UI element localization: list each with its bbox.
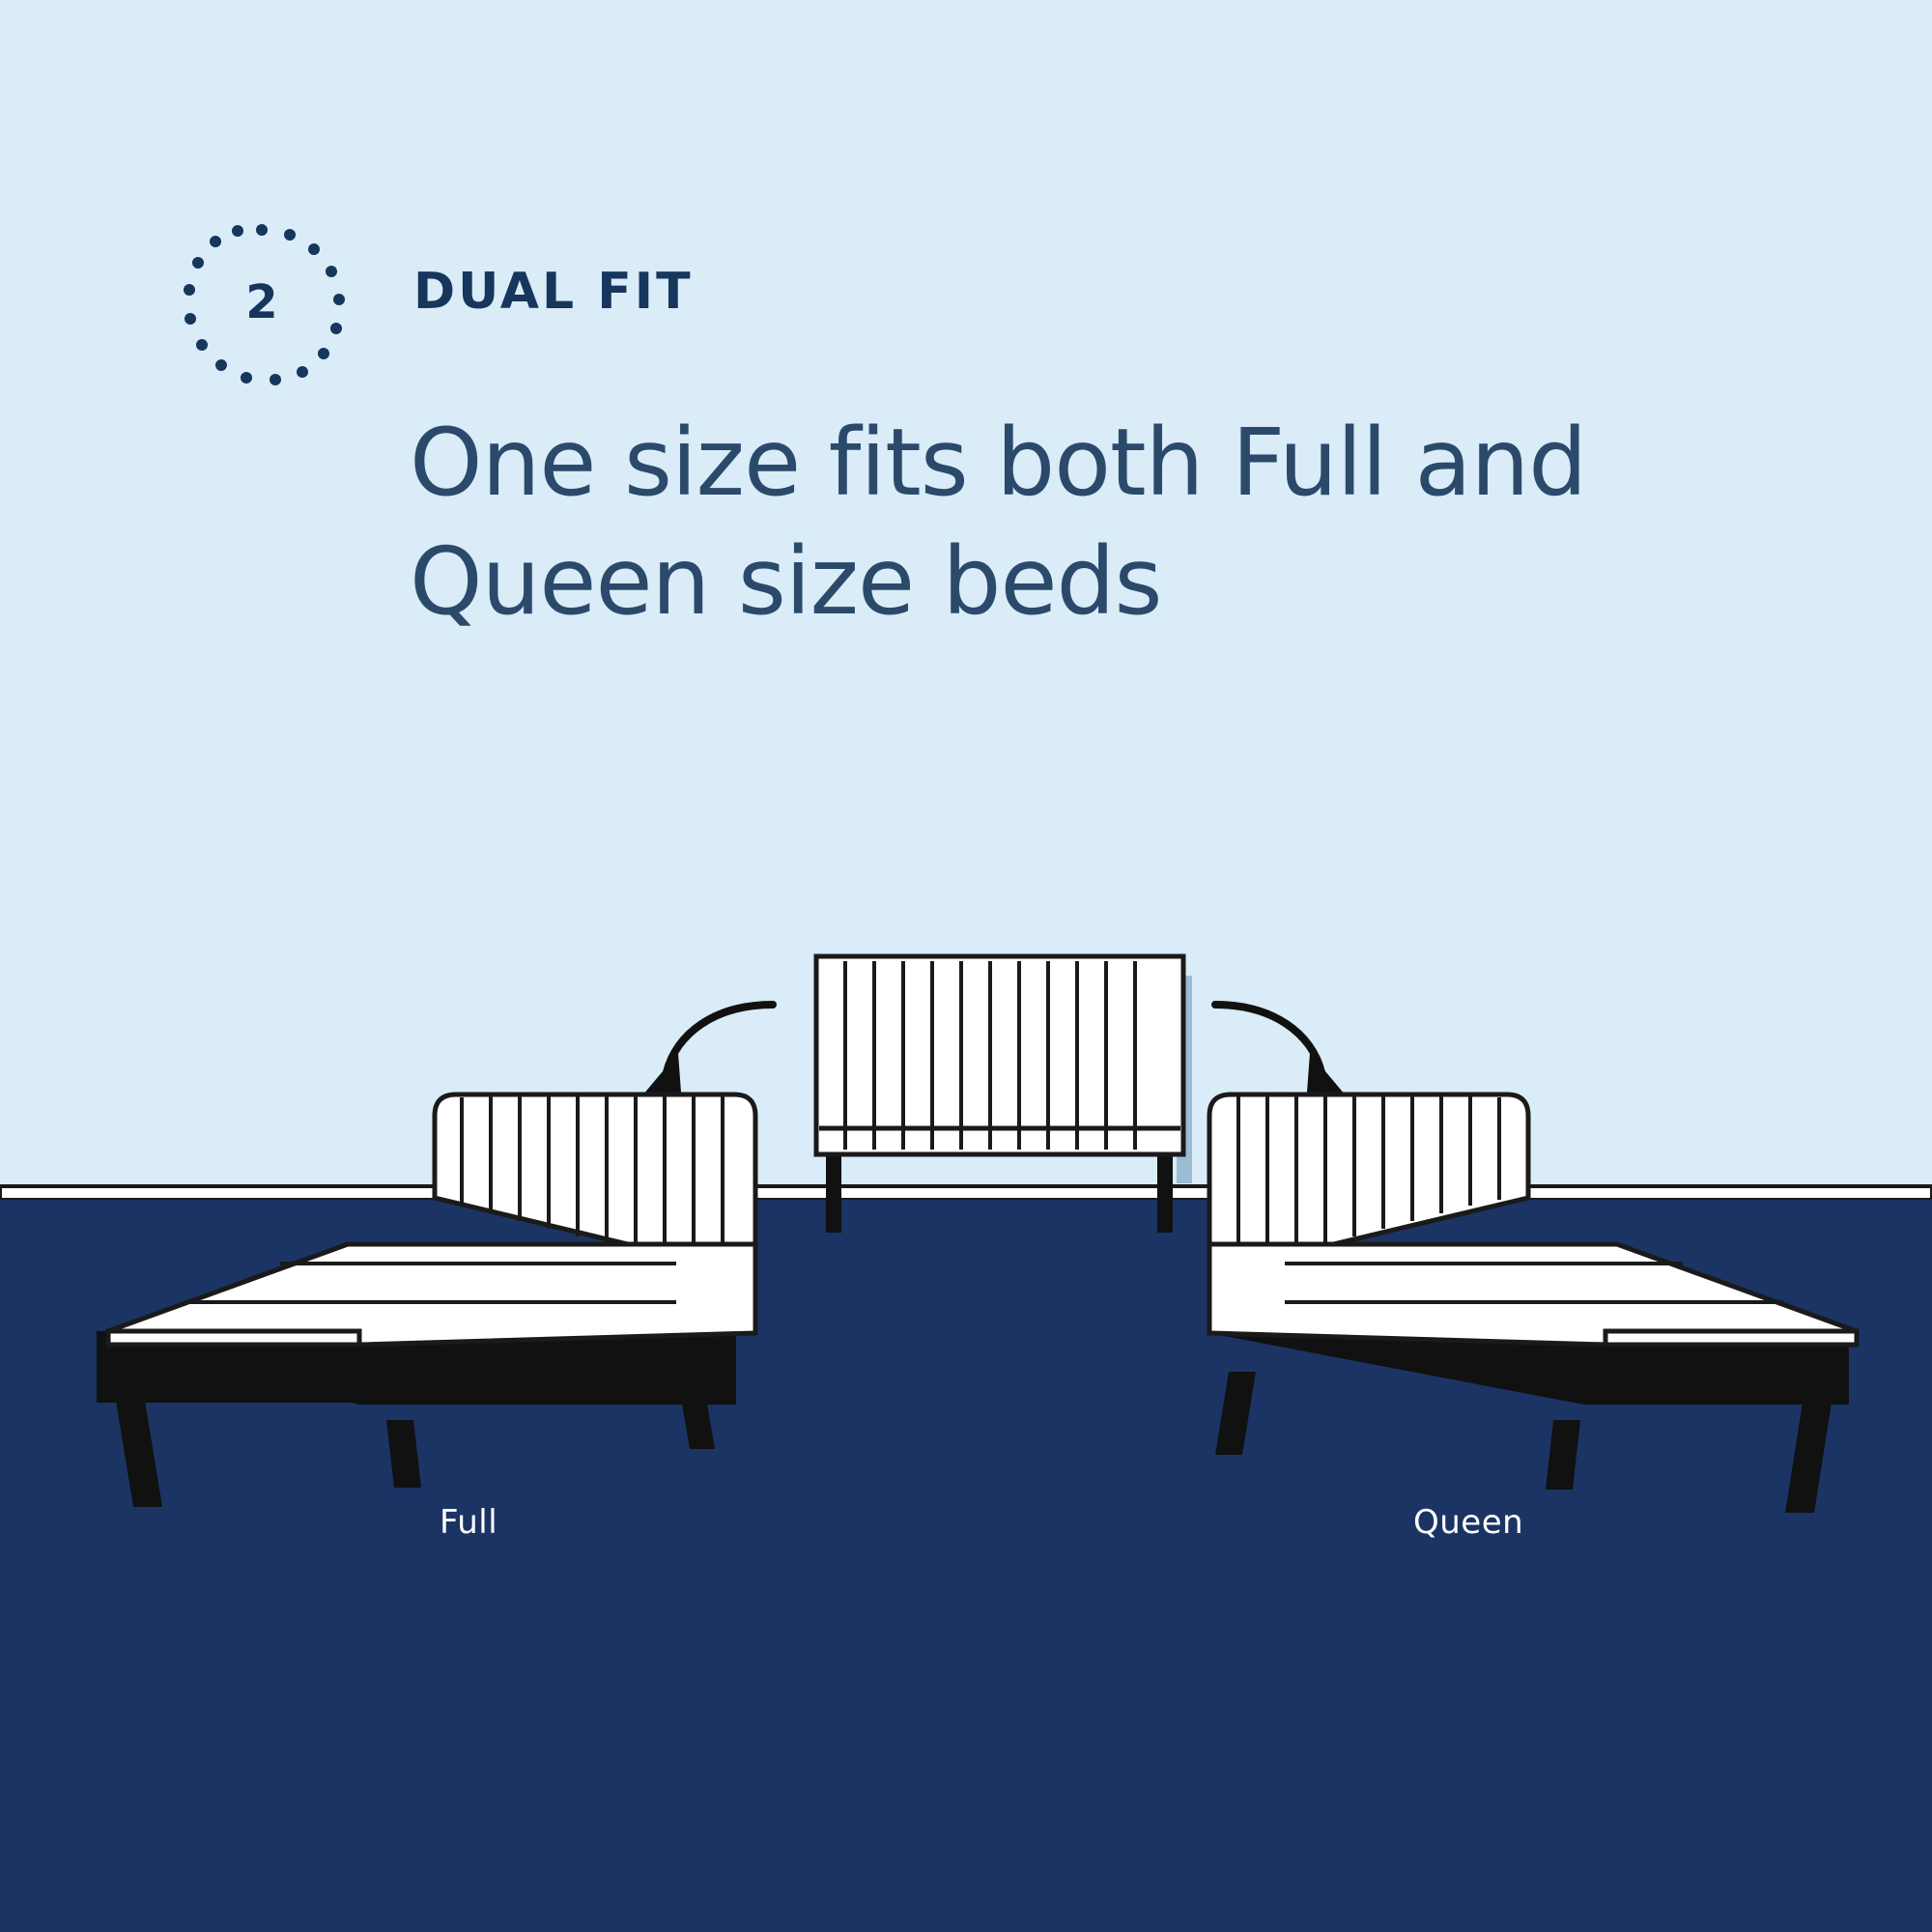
step-number: 2 bbox=[189, 230, 334, 375]
page-title: One size fits both Full and Queen size b… bbox=[410, 404, 1665, 641]
eyebrow-label: DUAL FIT bbox=[413, 263, 694, 321]
bed-label-queen: Queen bbox=[1413, 1503, 1523, 1542]
bed-label-full: Full bbox=[440, 1503, 497, 1542]
step-badge: 2 bbox=[189, 230, 334, 375]
illustration-canvas: 2 DUAL FIT One size fits both Full and Q… bbox=[0, 0, 1932, 1932]
baseboard bbox=[0, 1186, 1932, 1200]
